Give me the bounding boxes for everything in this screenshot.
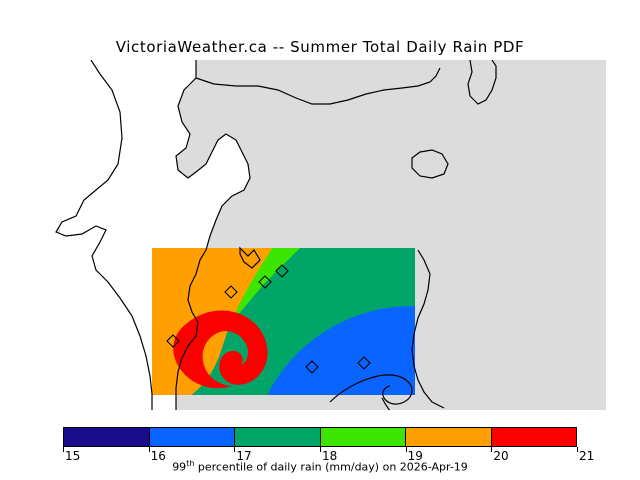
colorbar-band-18-19 [321,428,407,446]
map-plot-area[interactable] [0,60,640,410]
caption-prefix: 99 [172,461,186,474]
colorbar-band-16-17 [150,428,236,446]
colorbar-caption: 99th percentile of daily rain (mm/day) o… [0,459,640,474]
page-title: VictoriaWeather.ca -- Summer Total Daily… [0,38,640,56]
colorbar-band-20-21 [492,428,577,446]
colorbar-band-17-18 [235,428,321,446]
rainfall-contour-field [152,248,415,410]
weather-map-page: VictoriaWeather.ca -- Summer Total Daily… [0,0,640,480]
colorbar [63,427,577,447]
colorbar-band-15-16 [64,428,150,446]
colorbar-band-19-20 [406,428,492,446]
caption-suffix: percentile of daily rain (mm/day) on 202… [194,461,467,474]
